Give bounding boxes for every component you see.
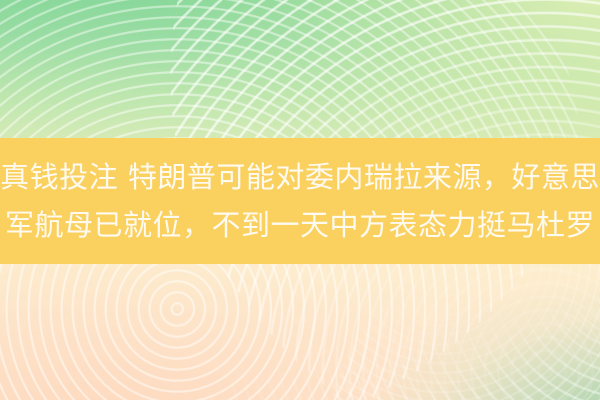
headline-band: 真钱投注 特朗普可能对委内瑞拉来源，好意思 军航母已就位，不到一天中方表态力挺马… xyxy=(0,138,600,264)
headline-line-1: 真钱投注 特朗普可能对委内瑞拉来源，好意思 xyxy=(0,153,600,201)
headline-line-2: 军航母已就位，不到一天中方表态力挺马杜罗 xyxy=(5,201,595,249)
banner-image: 真钱投注 特朗普可能对委内瑞拉来源，好意思 军航母已就位，不到一天中方表态力挺马… xyxy=(0,0,600,400)
